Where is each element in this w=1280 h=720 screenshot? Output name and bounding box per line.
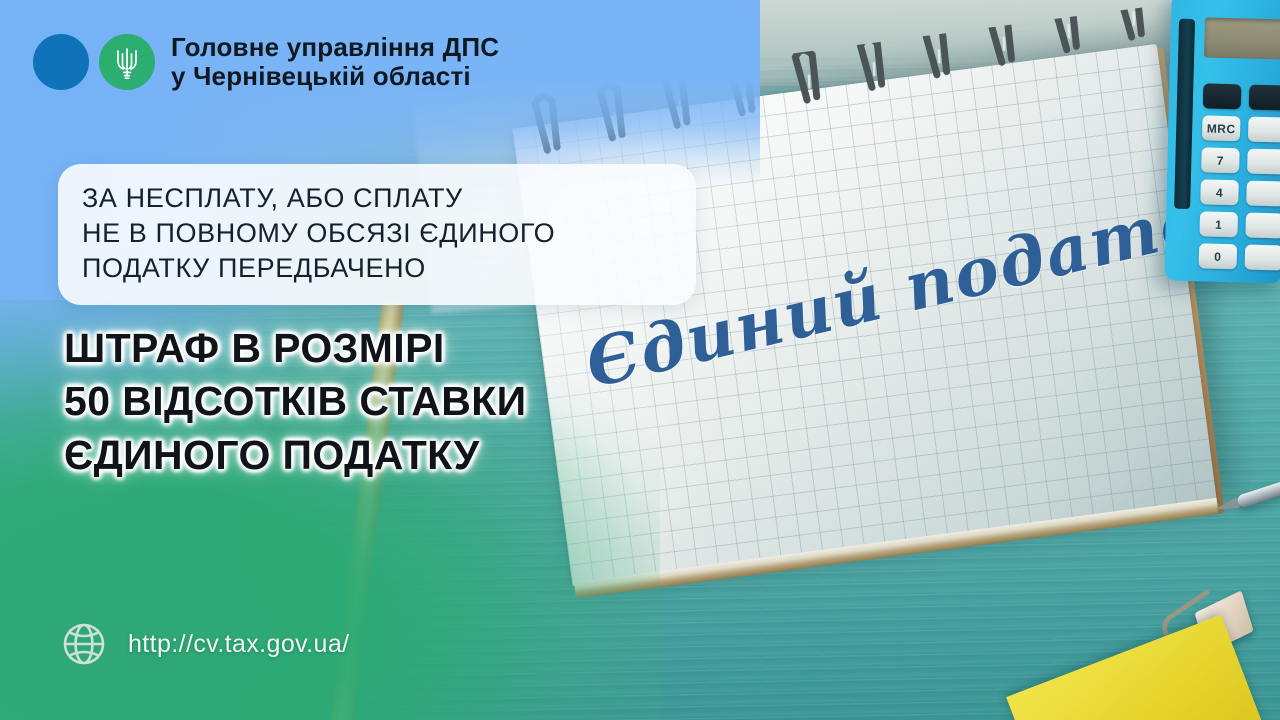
calculator-key-0: 0 (1199, 243, 1238, 269)
calculator-key-5 (1246, 181, 1280, 207)
callout-panel: ЗА НЕСПЛАТУ, АБО СПЛАТУ НЕ В ПОВНОМУ ОБС… (58, 164, 696, 305)
calculator-key-4: 4 (1200, 179, 1239, 205)
calculator-side-strip (1174, 19, 1195, 209)
organization-name: Головне управління ДПС у Чернівецькій об… (171, 33, 499, 92)
calculator-key-8 (1247, 149, 1280, 175)
calculator-key-power (1203, 83, 1242, 109)
calculator-key-dot (1245, 245, 1280, 271)
dps-green-dot-icon (99, 34, 155, 90)
calculator-key-mplus (1248, 117, 1280, 143)
calculator-keypad: MRC 7 4 1 0 (1199, 83, 1280, 271)
footer-website[interactable]: http://cv.tax.gov.ua/ (60, 620, 349, 668)
infographic-canvas: Єдиний податок MRC 7 4 1 0 (0, 0, 1280, 720)
calculator: MRC 7 4 1 0 (1164, 0, 1280, 283)
calculator-key-1: 1 (1199, 211, 1238, 237)
callout-text: ЗА НЕСПЛАТУ, АБО СПЛАТУ НЕ В ПОВНОМУ ОБС… (82, 181, 672, 286)
calculator-key-clear (1249, 85, 1280, 111)
calculator-key-7: 7 (1201, 147, 1240, 173)
globe-icon (60, 620, 108, 668)
organization-logo-row: Головне управління ДПС у Чернівецькій об… (33, 33, 499, 92)
calculator-display (1204, 17, 1280, 59)
calculator-key-mrc: MRC (1202, 115, 1241, 141)
website-url[interactable]: http://cv.tax.gov.ua/ (128, 630, 349, 659)
dps-blue-dot-icon (33, 34, 89, 90)
ukrainian-trident-icon (114, 45, 140, 79)
calculator-key-2 (1245, 213, 1280, 239)
main-headline: ШТРАФ В РОЗМІРІ 50 ВІДСОТКІВ СТАВКИ ЄДИН… (64, 322, 704, 482)
